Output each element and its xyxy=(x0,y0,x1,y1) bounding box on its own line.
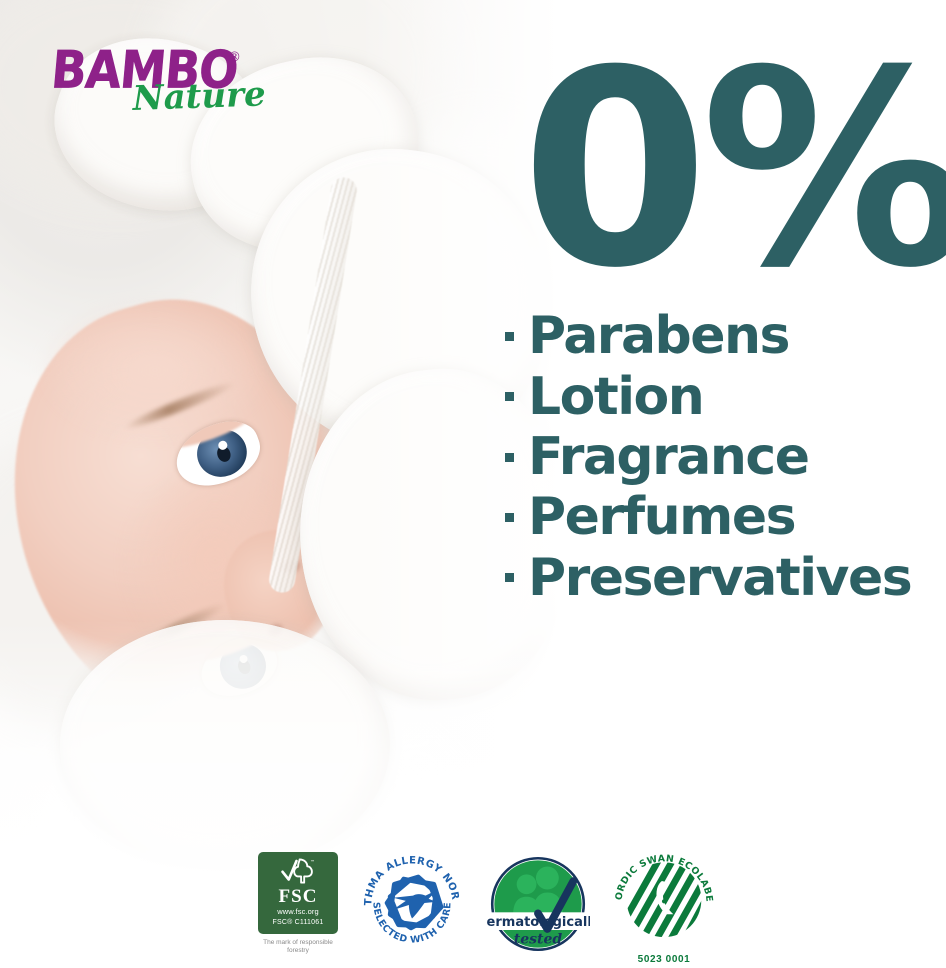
fsc-license-code: FSC® C111061 xyxy=(273,919,324,926)
claim-item: Preservatives xyxy=(505,548,946,608)
claims-list: Parabens Lotion Fragrance Perfumes Prese… xyxy=(505,306,946,608)
bullet-icon xyxy=(505,332,514,341)
asthma-allergy-nordic-badge: ASTHMA ALLERGY NORDIC SELECTED WITH CARE xyxy=(360,852,464,961)
nordic-swan-ecolabel-badge: NORDIC SWAN ECOLABEL 5023 0001 xyxy=(612,852,716,965)
claim-item: Perfumes xyxy=(505,487,946,547)
bambo-nature-logo: BAMBO ® Nature xyxy=(54,44,284,128)
claim-label: Preservatives xyxy=(528,548,911,608)
bullet-icon xyxy=(505,453,514,462)
fsc-badge: ™ FSC www.fsc.org FSC® C111061 The mark … xyxy=(258,852,338,955)
logo-subwordmark: Nature xyxy=(132,77,266,116)
registered-trademark-icon: ® xyxy=(228,50,241,65)
claim-label: Lotion xyxy=(528,367,703,427)
swan-license-number: 5023 0001 xyxy=(612,954,716,965)
fsc-badge-box: ™ FSC www.fsc.org FSC® C111061 xyxy=(258,852,338,934)
derma-line1: Dermatologically xyxy=(486,915,590,930)
zero-percent-headline: 0% xyxy=(521,46,946,294)
fsc-caption: The mark of responsible forestry xyxy=(255,939,341,955)
dermatologically-tested-icon: Dermatologically tested xyxy=(486,852,590,956)
nordic-swan-ecolabel-icon: NORDIC SWAN ECOLABEL xyxy=(612,852,716,948)
baby-photo xyxy=(0,0,560,880)
bullet-icon xyxy=(505,513,514,522)
asthma-allergy-nordic-icon: ASTHMA ALLERGY NORDIC SELECTED WITH CARE xyxy=(360,852,464,956)
dermatologically-tested-badge: Dermatologically tested xyxy=(486,852,590,961)
svg-text:™: ™ xyxy=(310,859,315,865)
claim-label: Perfumes xyxy=(528,487,795,547)
bullet-icon xyxy=(505,392,514,401)
claim-item: Lotion xyxy=(505,367,946,427)
claim-label: Fragrance xyxy=(528,427,809,487)
fsc-url: www.fsc.org xyxy=(277,907,319,916)
derma-line2: tested xyxy=(514,932,563,948)
fsc-tree-check-icon: ™ xyxy=(281,856,315,886)
claim-label: Parabens xyxy=(528,306,789,366)
marketing-banner: BAMBO ® Nature 0% Parabens Lotion Fragra… xyxy=(0,0,946,968)
certification-badges: ™ FSC www.fsc.org FSC® C111061 The mark … xyxy=(258,852,758,964)
fsc-label: FSC xyxy=(279,887,318,906)
claims-panel: 0% Parabens Lotion Fragrance Perfumes Pr… xyxy=(505,46,946,608)
claim-item: Fragrance xyxy=(505,427,946,487)
bullet-icon xyxy=(505,573,514,582)
photo-fade-bottom xyxy=(0,620,560,880)
